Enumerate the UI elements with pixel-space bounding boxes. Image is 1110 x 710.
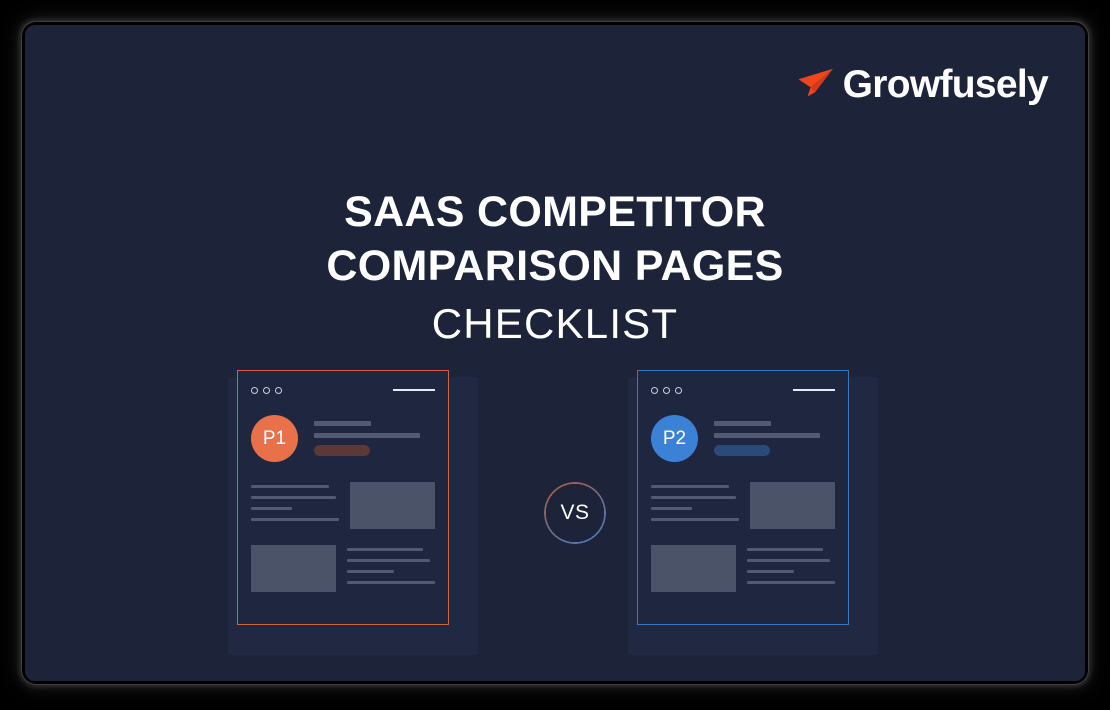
comparison-card-page-one: P1	[228, 370, 478, 660]
window-dots	[251, 387, 282, 394]
mockup-bottom-row	[651, 545, 835, 592]
versus-badge: VS	[544, 482, 606, 544]
window-dot-icon	[663, 387, 670, 394]
mockup-bottom-row	[251, 545, 435, 592]
image-placeholder	[350, 482, 435, 529]
avatar: P1	[251, 415, 298, 462]
mockup-mid-row	[651, 482, 835, 529]
title-line-2: COMPARISON PAGES	[25, 239, 1085, 293]
window-dot-icon	[263, 387, 270, 394]
mockup-titlebar	[651, 384, 835, 396]
hero-text-block	[714, 421, 835, 456]
text-bar	[314, 433, 420, 438]
text-bar	[651, 496, 736, 499]
text-bar	[347, 570, 394, 573]
mockup-hero-row: P1	[251, 415, 435, 462]
titlebar-rule	[793, 389, 835, 391]
text-bar	[251, 507, 292, 510]
text-bar	[651, 507, 692, 510]
mockup-titlebar	[251, 384, 435, 396]
text-bar	[651, 485, 729, 488]
text-bar	[251, 496, 336, 499]
cta-pill[interactable]	[314, 445, 370, 456]
text-bar	[747, 548, 823, 551]
text-bar	[251, 518, 339, 521]
comparison-card-page-two: P2	[628, 370, 878, 660]
text-bar	[747, 570, 794, 573]
titlebar-rule	[393, 389, 435, 391]
image-placeholder	[251, 545, 336, 592]
window-dot-icon	[251, 387, 258, 394]
page-title: SAAS COMPETITOR COMPARISON PAGES CHECKLI…	[25, 185, 1085, 351]
paper-plane-icon	[797, 68, 834, 101]
window-dot-icon	[275, 387, 282, 394]
text-bar	[651, 518, 739, 521]
text-bar	[714, 421, 771, 426]
bottom-text-block	[747, 545, 835, 592]
page-mockup-p1: P1	[237, 370, 449, 625]
text-bar	[314, 421, 371, 426]
brand-wordmark: Growfusely	[843, 65, 1048, 104]
cta-pill[interactable]	[714, 445, 770, 456]
window-dot-icon	[651, 387, 658, 394]
mid-text-block	[251, 482, 339, 529]
brand-logo: Growfusely	[797, 65, 1048, 104]
image-placeholder	[750, 482, 835, 529]
image-placeholder	[651, 545, 736, 592]
versus-label: VS	[544, 482, 606, 544]
title-line-3: CHECKLIST	[25, 297, 1085, 351]
text-bar	[347, 581, 435, 584]
text-bar	[747, 559, 830, 562]
mockup-mid-row	[251, 482, 435, 529]
comparison-stage: P1	[25, 370, 1085, 660]
text-bar	[714, 433, 820, 438]
mid-text-block	[651, 482, 739, 529]
title-line-1: SAAS COMPETITOR	[25, 185, 1085, 239]
page-mockup-p2: P2	[637, 370, 849, 625]
slide-panel: Growfusely SAAS COMPETITOR COMPARISON PA…	[25, 25, 1085, 681]
text-bar	[747, 581, 835, 584]
hero-text-block	[314, 421, 435, 456]
bottom-text-block	[347, 545, 435, 592]
text-bar	[251, 485, 329, 488]
mockup-hero-row: P2	[651, 415, 835, 462]
window-dot-icon	[675, 387, 682, 394]
text-bar	[347, 559, 430, 562]
text-bar	[347, 548, 423, 551]
slide-frame: Growfusely SAAS COMPETITOR COMPARISON PA…	[0, 0, 1110, 710]
avatar: P2	[651, 415, 698, 462]
window-dots	[651, 387, 682, 394]
